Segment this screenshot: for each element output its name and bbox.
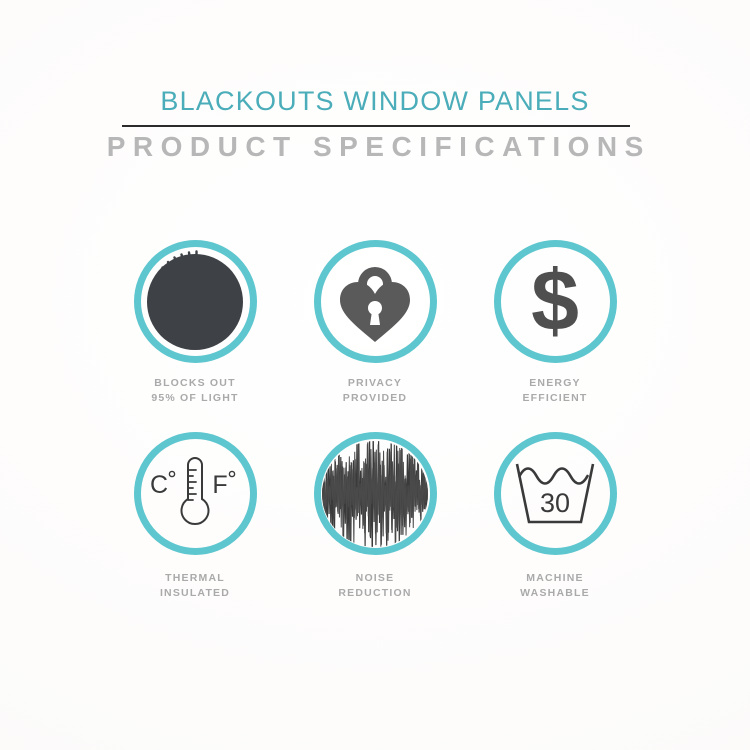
feature-caption: NOISE REDUCTION (338, 571, 411, 601)
sound-waveform-icon (321, 440, 429, 548)
caption-line-2: WASHABLE (520, 586, 590, 601)
caption-line-1: NOISE (338, 571, 411, 586)
feature-energy-efficient: $ ENERGY EFFICIENT (465, 240, 645, 432)
caption-line-2: REDUCTION (338, 586, 411, 601)
caption-line-1: THERMAL (160, 571, 230, 586)
feature-blocks-out-light: BLOCKS OUT 95% OF LIGHT (105, 240, 285, 432)
fahrenheit-label: F (212, 471, 227, 499)
icon-ring (314, 240, 437, 363)
feature-machine-washable: 30 MACHINE WASHABLE (465, 432, 645, 601)
icon-ring: 30 (494, 432, 617, 555)
caption-line-2: PROVIDED (343, 391, 407, 406)
wash-temperature-label: 30 (540, 488, 570, 518)
caption-line-2: EFFICIENT (522, 391, 587, 406)
feature-caption: PRIVACY PROVIDED (343, 376, 407, 406)
feature-thermal-insulated: C F THERMAL INSULATED (105, 432, 285, 601)
feature-privacy-provided: PRIVACY PROVIDED (285, 240, 465, 432)
thermometer-icon: C F (149, 453, 241, 535)
icon-ring (314, 432, 437, 555)
page-subtitle: PRODUCT SPECIFICATIONS (0, 131, 750, 163)
feature-caption: ENERGY EFFICIENT (522, 376, 587, 406)
icon-ring: C F (134, 432, 257, 555)
blackout-circle-icon (139, 246, 251, 358)
feature-caption: BLOCKS OUT 95% OF LIGHT (151, 376, 238, 406)
icon-ring: $ (494, 240, 617, 363)
feature-caption: MACHINE WASHABLE (520, 571, 590, 601)
feature-row-2: C F THERMAL INSULATED (105, 432, 645, 601)
icon-ring (134, 240, 257, 363)
celsius-label: C (150, 471, 168, 499)
caption-line-1: PRIVACY (343, 376, 407, 391)
caption-line-2: INSULATED (160, 586, 230, 601)
caption-line-1: MACHINE (520, 571, 590, 586)
page-title: BLACKOUTS WINDOW PANELS (0, 86, 750, 117)
feature-grid: BLOCKS OUT 95% OF LIGHT (105, 240, 645, 601)
feature-noise-reduction: NOISE REDUCTION (285, 432, 465, 601)
heart-padlock-icon (334, 258, 416, 346)
header-divider (122, 125, 630, 127)
caption-line-2: 95% OF LIGHT (151, 391, 238, 406)
feature-row-1: BLOCKS OUT 95% OF LIGHT (105, 240, 645, 432)
caption-line-1: ENERGY (522, 376, 587, 391)
dollar-sign-icon: $ (512, 256, 598, 348)
caption-line-1: BLOCKS OUT (151, 376, 238, 391)
infographic-page: BLACKOUTS WINDOW PANELS PRODUCT SPECIFIC… (0, 0, 750, 750)
feature-caption: THERMAL INSULATED (160, 571, 230, 601)
wash-basin-icon: 30 (511, 458, 599, 530)
svg-text:$: $ (531, 253, 579, 349)
